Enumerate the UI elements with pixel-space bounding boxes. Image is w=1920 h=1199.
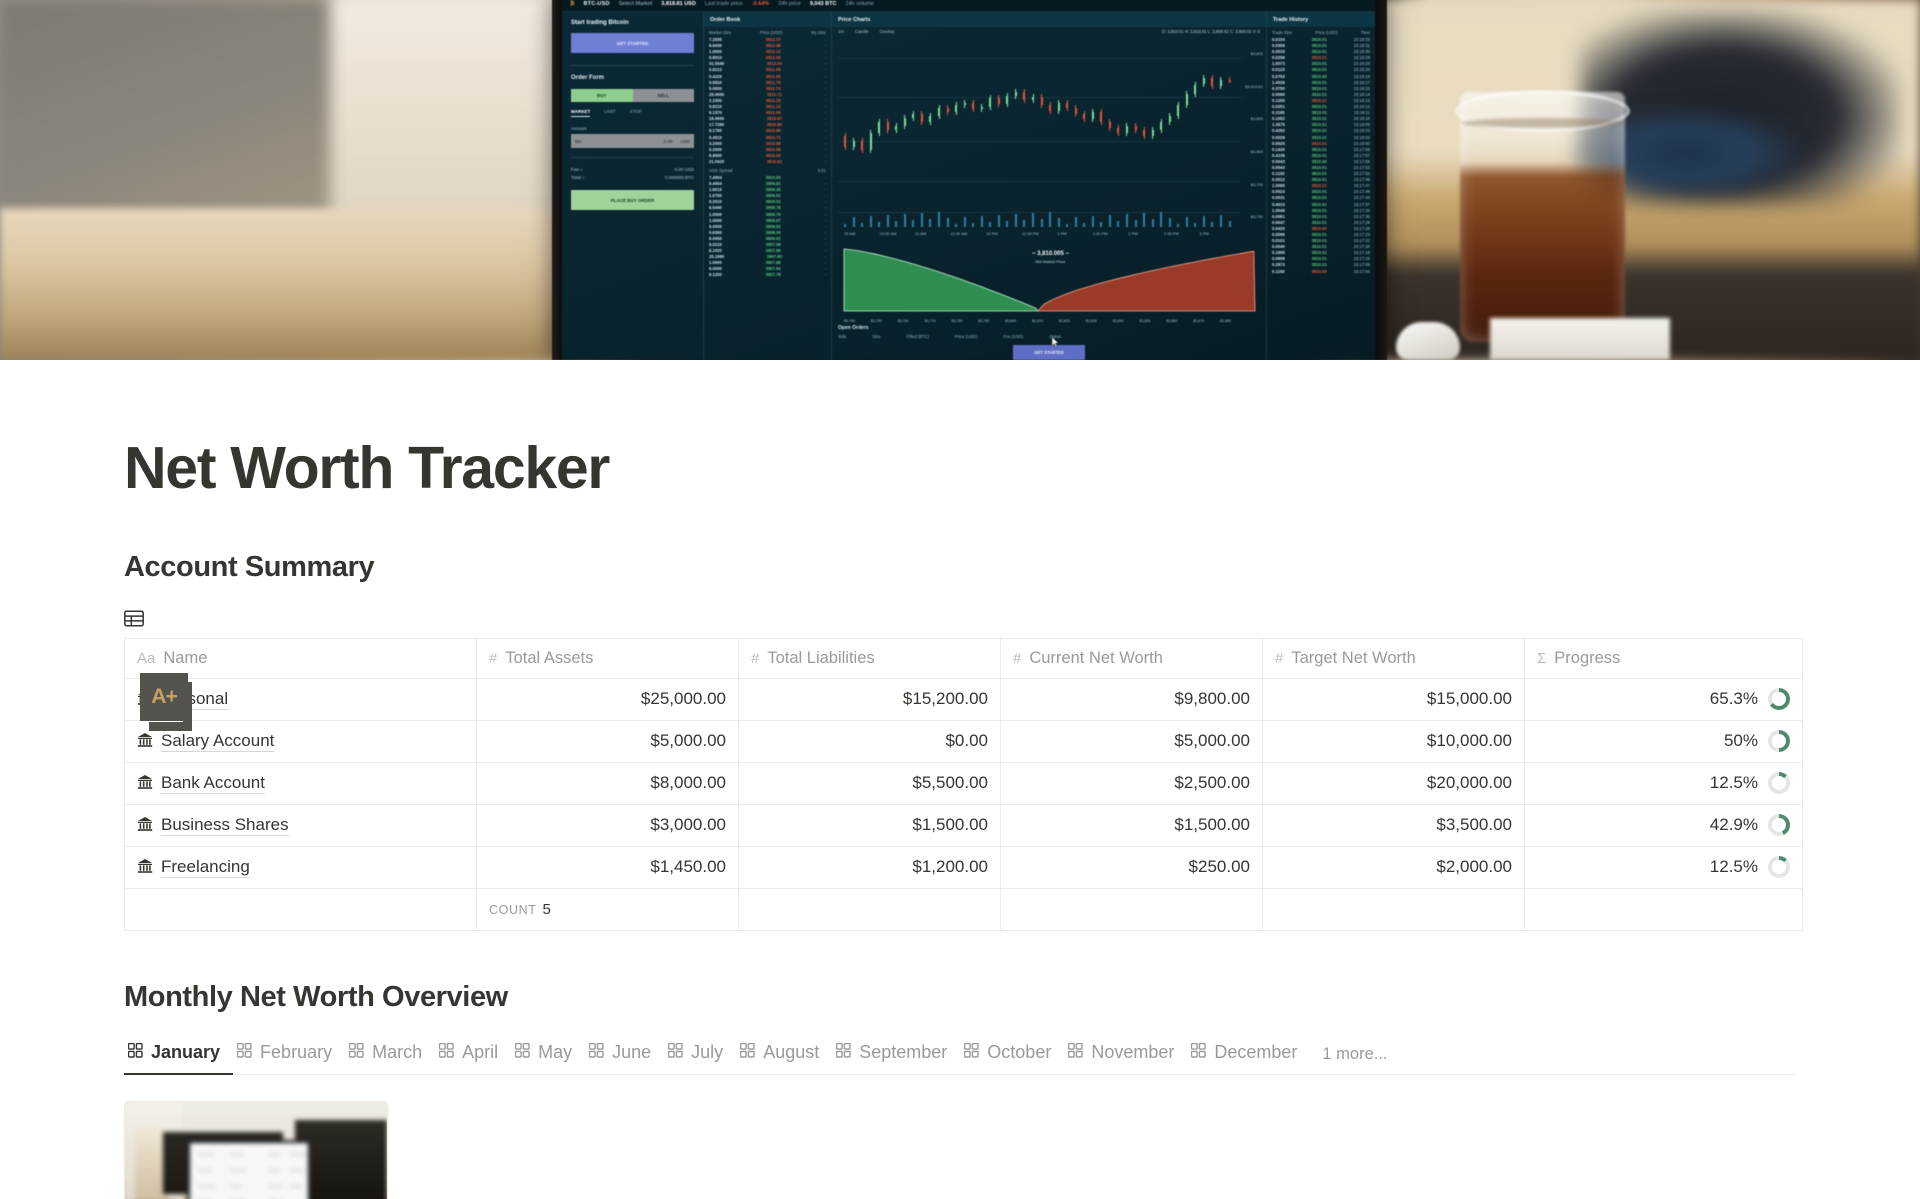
volume-bar: [1041, 219, 1043, 227]
progress-label: 12.5%: [1710, 773, 1758, 793]
tab-june[interactable]: June: [585, 1036, 664, 1075]
candle: [1075, 108, 1077, 114]
cover-paper: [1490, 318, 1670, 360]
cell-progress[interactable]: 65.3%: [1525, 678, 1803, 720]
volume-bar: [1075, 217, 1077, 227]
cell-current-net-worth[interactable]: $1,500.00: [1001, 804, 1263, 846]
cover-blurred-wall-light: [330, 0, 580, 240]
volume-bar: [1092, 216, 1094, 227]
candle: [1143, 130, 1145, 136]
trading-dashboard: ₿ BTC-USD Select Market 3,818.81 USD Las…: [562, 0, 1375, 360]
column-label: Current Net Worth: [1029, 649, 1163, 667]
candle: [1117, 128, 1119, 134]
divider-2: [571, 157, 694, 158]
cell-total-assets[interactable]: $5,000.00: [477, 720, 739, 762]
candle: [972, 103, 974, 110]
footer-spacer-3: [1001, 888, 1263, 930]
trade-history-row: 0.11503810.0015:17:04: [1272, 269, 1370, 275]
col-time: Time: [1361, 30, 1370, 35]
buy-sell-toggle: BUY SELL: [571, 89, 694, 102]
tab-november[interactable]: November: [1064, 1036, 1187, 1075]
depth-x-label: $3,880: [1220, 319, 1231, 323]
volume-bar: [964, 217, 966, 227]
progress-ring: [1768, 856, 1790, 878]
depth-x-label: $3,830: [1086, 319, 1097, 323]
volume-bar: [1211, 222, 1213, 227]
amount-value: 0.00: [586, 139, 677, 144]
cell-current-net-worth[interactable]: $2,500.00: [1001, 762, 1263, 804]
volume-bar: [981, 216, 983, 227]
candle: [1023, 92, 1025, 100]
tab-may[interactable]: May: [511, 1036, 585, 1075]
order-book-spread: USD Spread 0.01: [704, 165, 831, 175]
count-value: 5: [542, 901, 550, 918]
volume-bar: [972, 223, 974, 227]
total-label: Total =: [571, 175, 584, 180]
volume-bar: [1160, 212, 1162, 227]
volume-bar: [1066, 224, 1068, 227]
column-header-total-liabilities[interactable]: #Total Liabilities: [739, 638, 1001, 678]
row-title-link[interactable]: Freelancing: [161, 857, 250, 878]
volume-bar: [1100, 222, 1102, 227]
table-row[interactable]: Personal$25,000.00$15,200.00$9,800.00$15…: [125, 678, 1803, 720]
order-book-row: 6.12003807.78·: [709, 272, 826, 278]
bitcoin-icon: ₿: [570, 1, 574, 7]
tab-label: May: [538, 1042, 572, 1063]
candle: [1049, 105, 1051, 111]
page-body: A+ Net Worth Tracker Account Summary AaN…: [0, 360, 1920, 1199]
volume-bar: [904, 214, 906, 227]
open-orders-column: Filled (BTC): [907, 334, 929, 339]
fee-label: Fee =: [571, 167, 583, 172]
tab-stop: STOP: [630, 109, 642, 117]
monitor-bezel-left: [552, 0, 562, 360]
volume-bar: [1058, 218, 1060, 227]
depth-x-label: $3,790: [978, 319, 989, 323]
volume-bar: [938, 212, 940, 227]
cell-total-assets[interactable]: $1,450.00: [477, 846, 739, 888]
col-market-size: Market Size: [709, 30, 731, 35]
candle: [981, 107, 983, 110]
gallery-view-icon: [740, 1042, 755, 1063]
gallery-view-icon: [1191, 1042, 1206, 1063]
gallery-view-icon: [964, 1042, 979, 1063]
candlestick-chart: $3,815$3,810.61$3,805$3,800$3,795$3,7901…: [838, 38, 1263, 236]
column-header-progress[interactable]: ΣProgress: [1525, 638, 1803, 678]
number-type-icon: #: [1275, 650, 1283, 667]
divider: [571, 65, 694, 66]
candle: [1083, 114, 1085, 120]
col-th-price: Price (USD): [1315, 30, 1337, 35]
depth-x-label: $3,760: [898, 319, 909, 323]
get-started-button: GET STARTED: [571, 33, 694, 53]
cell-total-assets[interactable]: $8,000.00: [477, 762, 739, 804]
cell-progress[interactable]: 50%: [1525, 720, 1803, 762]
progress-ring: [1768, 730, 1790, 752]
account-summary-heading[interactable]: Account Summary: [124, 551, 1796, 584]
card-image-blur-layer: [125, 1102, 387, 1199]
chart-y-label: $3,810.61: [1245, 84, 1263, 89]
document-a-plus-icon[interactable]: A+: [140, 673, 192, 731]
order-form-heading: Order Form: [571, 75, 694, 81]
table-footer-row: COUNT5: [125, 888, 1803, 930]
trading-topbar: ₿ BTC-USD Select Market 3,818.81 USD Las…: [562, 0, 1375, 12]
candle: [1006, 96, 1008, 104]
depth-x-label: $3,800: [1005, 319, 1016, 323]
col-trade-size: Trade Size: [1272, 30, 1292, 35]
chart-x-label: 2:30 PM: [1164, 231, 1179, 236]
place-buy-order-button: PLACE BUY ORDER: [571, 190, 694, 210]
chart-x-label: 12:30 PM: [1022, 231, 1039, 236]
cell-name[interactable]: Business Shares: [125, 804, 477, 846]
gallery-view-icon: [439, 1042, 454, 1063]
depth-x-label: $3,870: [1193, 319, 1204, 323]
trade-history-rows: 0.01043810.0115:18:330.03063810.0115:18:…: [1267, 37, 1375, 275]
card-cover-image: [125, 1102, 387, 1199]
cell-current-net-worth[interactable]: $9,800.00: [1001, 678, 1263, 720]
cell-total-liabilities[interactable]: $1,500.00: [739, 804, 1001, 846]
tab-label: January: [151, 1042, 220, 1063]
price-change-value: -0.64%: [752, 1, 769, 7]
candle: [1066, 103, 1068, 109]
text-type-icon: Aa: [137, 650, 155, 667]
volume-value: 9,043 BTC: [810, 1, 837, 7]
tab-february[interactable]: February: [233, 1036, 345, 1075]
footer-spacer-4: [1263, 888, 1525, 930]
volume-bar: [1152, 219, 1154, 227]
volume-bar: [878, 222, 880, 227]
account-summary-table: AaName #Total Assets #Total Liabilities …: [124, 638, 1803, 931]
cell-total-assets[interactable]: $3,000.00: [477, 804, 739, 846]
volume-bar: [1143, 213, 1145, 227]
table-row[interactable]: Bank Account$8,000.00$5,500.00$2,500.00$…: [125, 762, 1803, 804]
chart-x-label: 11:30 AM: [951, 231, 968, 236]
open-orders-column: Side: [838, 334, 846, 339]
volume-bar: [912, 220, 914, 227]
cell-name[interactable]: Bank Account: [125, 762, 477, 804]
volume-bar: [853, 217, 855, 227]
volume-bar: [1032, 213, 1034, 227]
cell-name[interactable]: Freelancing: [125, 846, 477, 888]
tab-july[interactable]: July: [664, 1036, 736, 1075]
col-my-size: My Size: [811, 30, 826, 35]
gallery-view-icon: [836, 1042, 851, 1063]
tab-label: July: [691, 1042, 723, 1063]
monthly-overview-heading[interactable]: Monthly Net Worth Overview: [124, 981, 1796, 1014]
volume-bar: [1015, 214, 1017, 227]
cell-target-net-worth[interactable]: $15,000.00: [1263, 678, 1525, 720]
amount-input: Btc 0.00 USD: [571, 134, 694, 148]
depth-x-label: $3,740: [844, 319, 855, 323]
order-book-bids: 7.40043810.00·9.40043809.81·1.60103809.3…: [704, 175, 831, 279]
volume-bar: [989, 222, 991, 227]
price-charts-title: Price Charts: [832, 12, 1266, 27]
cell-current-net-worth[interactable]: $5,000.00: [1001, 720, 1263, 762]
fee-value: 0.00 USD: [674, 167, 694, 172]
count-aggregate[interactable]: COUNT5: [477, 888, 739, 930]
candle: [1032, 97, 1034, 100]
last-price-value: 3,818.81 USD: [661, 1, 696, 7]
column-label: Total Liabilities: [767, 649, 874, 667]
footer-spacer: [125, 888, 477, 930]
volume-bar: [844, 224, 846, 227]
chart-x-label: 2 PM: [1128, 231, 1137, 236]
gallery-view-icon: [237, 1042, 252, 1063]
candle: [1211, 78, 1213, 86]
candle: [921, 114, 923, 122]
number-type-icon: #: [1013, 650, 1021, 667]
depth-x-label: $3,810: [1032, 319, 1043, 323]
volume-bar: [1186, 217, 1188, 227]
progress-label: 65.3%: [1710, 689, 1758, 709]
candle: [878, 122, 880, 133]
cell-target-net-worth[interactable]: $3,500.00: [1263, 804, 1525, 846]
tab-label: October: [987, 1042, 1051, 1063]
candle: [938, 108, 940, 116]
candle: [929, 116, 931, 122]
card-laptop: [187, 1140, 311, 1199]
tab-april[interactable]: April: [435, 1036, 511, 1075]
gallery-view-icon: [589, 1042, 604, 1063]
column-header-current-net-worth[interactable]: #Current Net Worth: [1001, 638, 1263, 678]
trade-history-columns: Trade Size Price (USD) Time: [1267, 27, 1375, 37]
tab-march[interactable]: March: [345, 1036, 435, 1075]
volume-bar: [861, 223, 863, 227]
chart-x-label: 3 PM: [1200, 231, 1209, 236]
table-row[interactable]: Business Shares$3,000.00$1,500.00$1,500.…: [125, 804, 1803, 846]
tab-limit: LIMIT: [604, 109, 616, 117]
candle: [989, 98, 991, 106]
volume-bar: [998, 215, 1000, 227]
spread-value: 0.01: [818, 168, 826, 173]
chart-x-label: 10 AM: [844, 231, 855, 236]
depth-x-label: $3,780: [952, 319, 963, 323]
order-type-tabs: MARKET LIMIT STOP: [571, 109, 694, 117]
chart-y-label: $3,800: [1251, 149, 1263, 154]
candle: [1203, 78, 1205, 85]
tab-label: August: [763, 1042, 819, 1063]
count-label: COUNT: [489, 903, 536, 917]
overlay-dropdown: Overlay: [880, 29, 895, 34]
column-header-total-assets[interactable]: #Total Assets: [477, 638, 739, 678]
volume-bar: [887, 215, 889, 227]
tab-label: November: [1091, 1042, 1174, 1063]
chart-get-started-button: GET STARTED: [1013, 345, 1085, 360]
gallery-view-icon: [128, 1042, 143, 1063]
volume-bar: [1203, 216, 1205, 227]
chart-x-label: 10:30 AM: [880, 231, 897, 236]
chart-y-label: $3,790: [1251, 214, 1263, 219]
chart-y-label: $3,795: [1251, 182, 1263, 187]
tab-label: February: [260, 1042, 332, 1063]
gallery-view-icon: [515, 1042, 530, 1063]
candle: [947, 108, 949, 112]
candle: [887, 122, 889, 130]
candle: [861, 141, 863, 149]
cover-blurred-counter: [0, 208, 570, 360]
tab-label: April: [462, 1042, 498, 1063]
cell-total-assets[interactable]: $25,000.00: [477, 678, 739, 720]
progress-ring: [1768, 772, 1790, 794]
cell-progress[interactable]: 12.5%: [1525, 846, 1803, 888]
month-tab-bar: JanuaryFebruaryMarchAprilMayJuneJulyAugu…: [124, 1036, 1796, 1075]
number-type-icon: #: [751, 650, 759, 667]
tab-label: December: [1214, 1042, 1297, 1063]
volume-bar: [1169, 218, 1171, 227]
volume-bar: [1229, 221, 1231, 227]
depth-x-label: $3,840: [1113, 319, 1124, 323]
cell-current-net-worth[interactable]: $250.00: [1001, 846, 1263, 888]
gallery-view: [124, 1101, 1796, 1199]
depth-x-label: $3,770: [925, 319, 936, 323]
volume-bar: [1109, 215, 1111, 227]
row-title-link[interactable]: Salary Account: [161, 731, 274, 752]
card-laptop-screen: [190, 1143, 308, 1199]
cell-progress[interactable]: 42.9%: [1525, 804, 1803, 846]
mouse-cursor-icon: [1052, 337, 1059, 347]
candle: [1177, 105, 1179, 116]
table-row[interactable]: Freelancing$1,450.00$1,200.00$250.00$2,0…: [125, 846, 1803, 888]
row-title-link[interactable]: Bank Account: [161, 773, 265, 794]
volume-bar: [1083, 223, 1085, 227]
depth-x-label: $3,750: [871, 319, 882, 323]
page-title[interactable]: Net Worth Tracker: [124, 360, 1796, 501]
more-views-button[interactable]: 1 more...: [1310, 1039, 1387, 1074]
gallery-view-icon: [349, 1042, 364, 1063]
cell-target-net-worth[interactable]: $2,000.00: [1263, 846, 1525, 888]
volume-bar: [1177, 224, 1179, 227]
amount-label: Amount: [571, 126, 694, 131]
volume-bar: [1117, 221, 1119, 227]
trading-pair-label: BTC-USD: [583, 1, 609, 7]
open-orders-column: Fee (USD): [1003, 334, 1023, 339]
column-header-target-net-worth[interactable]: #Target Net Worth: [1263, 638, 1525, 678]
candle: [1041, 97, 1043, 105]
price-charts-panel: Price Charts 1m Candle Overlay O: 3,810.…: [832, 12, 1267, 360]
chart-x-label: 1 PM: [1057, 231, 1066, 236]
progress-label: 50%: [1724, 731, 1758, 751]
candle: [895, 126, 897, 130]
depth-chart-svg: [838, 237, 1263, 323]
volume-bar: [895, 221, 897, 227]
footer-spacer-2: [739, 888, 1001, 930]
open-orders-column: Price (USD): [955, 334, 977, 339]
cover-jar-liquid-line: [1462, 118, 1624, 128]
candle-dropdown: Candle: [855, 29, 869, 34]
tab-december[interactable]: December: [1187, 1036, 1310, 1075]
gallery-view-icon: [668, 1042, 683, 1063]
page-icon-label: A+: [140, 673, 188, 721]
select-market-dropdown: Select Market: [619, 1, 653, 7]
cell-target-net-worth[interactable]: $20,000.00: [1263, 762, 1525, 804]
spread-label: USD Spread: [709, 168, 733, 173]
table-row[interactable]: Salary Account$5,000.00$0.00$5,000.00$10…: [125, 720, 1803, 762]
col-price-usd: Price (USD): [760, 30, 782, 35]
order-book-columns: Market Size Price (USD) My Size: [704, 27, 831, 37]
order-book-panel: Order Book Market Size Price (USD) My Si…: [704, 12, 832, 360]
total-row: Total = 0.000000 BTC: [571, 175, 694, 180]
number-type-icon: #: [489, 650, 497, 667]
chart-x-label: 12 PM: [986, 231, 998, 236]
sell-button: SELL: [633, 89, 695, 102]
candle: [870, 133, 872, 150]
depth-x-label: $3,850: [1140, 319, 1151, 323]
volume-bar: [1135, 220, 1137, 227]
table-header-row: AaName #Total Assets #Total Liabilities …: [125, 638, 1803, 678]
candle: [904, 118, 906, 126]
candle: [912, 114, 914, 118]
cell-total-liabilities[interactable]: $0.00: [739, 720, 1001, 762]
chart-toolbar: 1m Candle Overlay O: 3,810.01 H: 3,810.6…: [832, 27, 1266, 36]
order-book-title: Order Book: [704, 12, 831, 27]
progress-label: 12.5%: [1710, 857, 1758, 877]
tab-label: June: [612, 1042, 651, 1063]
open-orders-column: Size: [872, 334, 880, 339]
gallery-card[interactable]: [124, 1101, 388, 1199]
cell-total-liabilities[interactable]: $15,200.00: [739, 678, 1001, 720]
candle: [1109, 122, 1111, 128]
cell-total-liabilities[interactable]: $5,500.00: [739, 762, 1001, 804]
tab-august[interactable]: August: [736, 1036, 832, 1075]
tab-october[interactable]: October: [960, 1036, 1064, 1075]
depth-x-label: $3,820: [1059, 319, 1070, 323]
chart-y-label: $3,805: [1251, 116, 1263, 121]
amount-unit: Btc: [571, 139, 586, 144]
volume-bar: [1220, 215, 1222, 227]
candle: [1220, 80, 1222, 86]
footer-spacer-5: [1525, 888, 1803, 930]
candle: [1100, 112, 1102, 122]
candle: [1135, 126, 1137, 130]
amount-currency: USD: [676, 139, 694, 144]
last-price-label: Last trade price: [705, 1, 743, 7]
tab-january[interactable]: January: [124, 1036, 233, 1075]
table-icon: [124, 610, 144, 627]
tab-market: MARKET: [571, 109, 590, 117]
candle: [1194, 85, 1196, 95]
fee-row: Fee = 0.00 USD: [571, 167, 694, 172]
buy-button: BUY: [571, 89, 633, 102]
cover-monitor: ₿ BTC-USD Select Market 3,818.81 USD Las…: [552, 0, 1387, 360]
tab-september[interactable]: September: [832, 1036, 960, 1075]
chart-y-label: $3,815: [1251, 51, 1263, 56]
volume-bar: [1023, 220, 1025, 227]
interval-dropdown: 1m: [838, 29, 844, 34]
candle: [1092, 112, 1094, 119]
column-label: Total Assets: [505, 649, 593, 667]
progress-label: 42.9%: [1710, 815, 1758, 835]
progress-ring: [1768, 814, 1790, 836]
volume-bar: [947, 218, 949, 227]
start-trading-panel: Start trading Bitcoin GET STARTED Order …: [562, 12, 704, 360]
total-value: 0.000000 BTC: [665, 175, 694, 180]
candle: [1152, 130, 1154, 136]
column-label: Target Net Worth: [1291, 649, 1415, 667]
cell-progress[interactable]: 12.5%: [1525, 762, 1803, 804]
tab-label: September: [859, 1042, 947, 1063]
progress-ring: [1768, 688, 1790, 710]
chart-x-label: 11 AM: [915, 231, 926, 236]
cell-total-liabilities[interactable]: $1,200.00: [739, 846, 1001, 888]
mid-market-label: Mid Market Price: [838, 259, 1263, 264]
row-title-link[interactable]: Business Shares: [161, 815, 289, 836]
candle: [853, 141, 855, 147]
volume-bar: [955, 224, 957, 227]
volume-bar: [1126, 214, 1128, 227]
ohlc-readout: O: 3,810.01 H: 3,810.61 L: 3,800.51 C: 3…: [1162, 29, 1260, 34]
cell-target-net-worth[interactable]: $10,000.00: [1263, 720, 1525, 762]
candle: [1058, 103, 1060, 111]
